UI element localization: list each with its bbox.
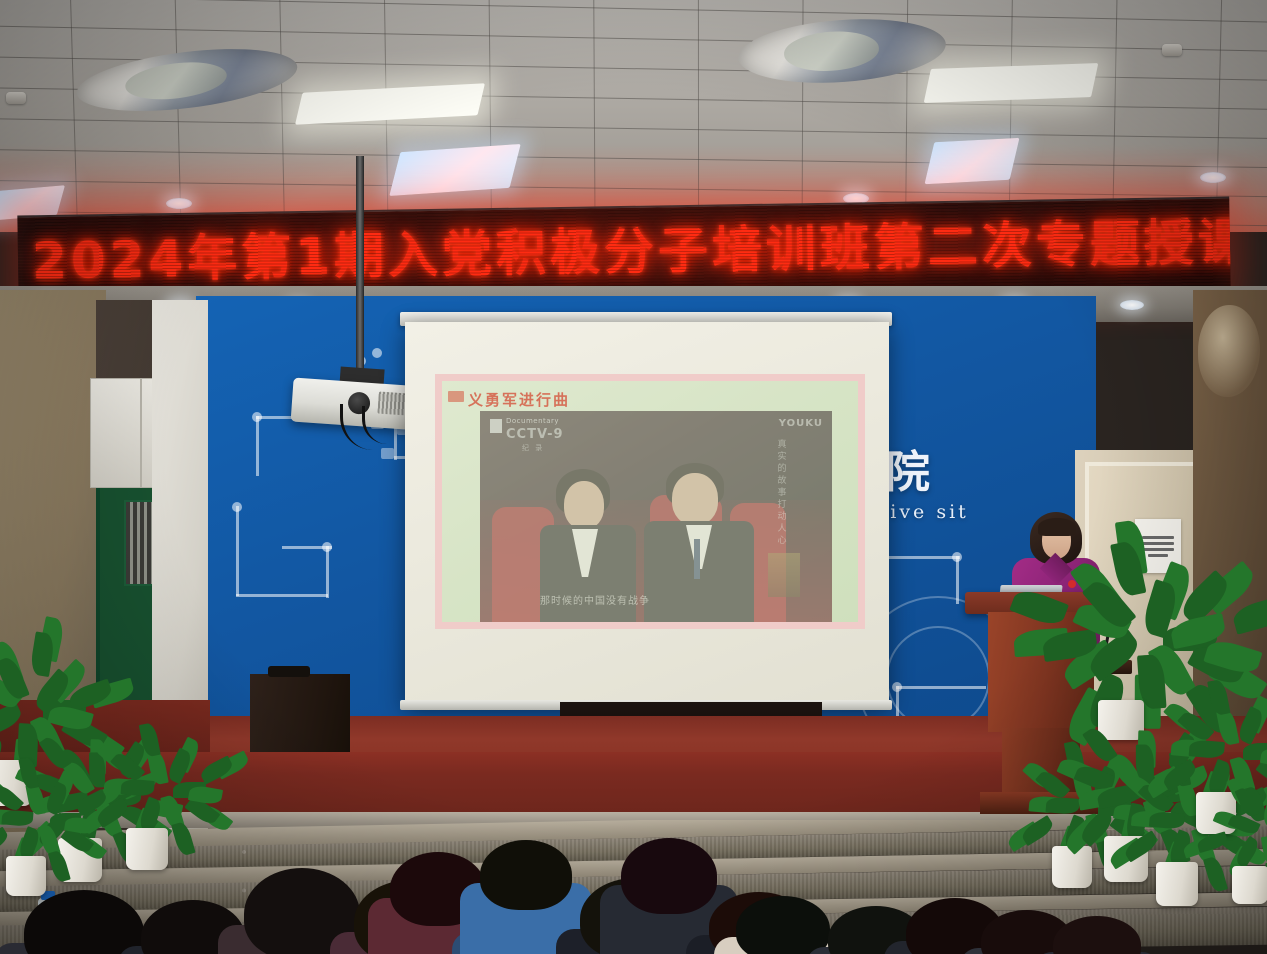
slide-title: 义勇军进行曲 (468, 389, 570, 410)
ceiling-panel-light-3 (389, 144, 521, 196)
wall-chinese-text: 院 (886, 436, 936, 500)
speaker-hair-front (1038, 518, 1076, 536)
slide-video: Documentary CCTV-9 纪 录 YOUKU 真实 的 故事 打动 … (480, 411, 832, 629)
circuit-graphic-line (326, 546, 329, 598)
plant-pot (1156, 862, 1198, 906)
circuit-graphic-line (896, 686, 986, 689)
ceiling-tile-line (279, 0, 286, 232)
video-subtitle: 那时候的中国没有战争 (540, 592, 650, 607)
audience-member (1034, 916, 1160, 954)
video-vertical-text: 真实 的 故事 打动 人心 (774, 439, 790, 547)
wall-ring-graphic-inner (886, 626, 990, 730)
plant-pot (1098, 700, 1144, 740)
ceiling-panel-light-2 (924, 63, 1099, 103)
circuit-graphic-node (372, 348, 382, 358)
ceiling-tile-line (0, 117, 1267, 140)
video-watermark: YOUKU (779, 418, 823, 429)
video-channel-line1: Documentary (506, 417, 559, 425)
circuit-graphic-icon (381, 448, 394, 459)
ceiling-tile-line (0, 0, 1267, 24)
ceiling-tile-line (0, 24, 1267, 53)
ceiling-tile-line (698, 0, 699, 232)
ceiling-tile-line (1111, 0, 1118, 232)
ceiling-tile-line (0, 148, 1267, 169)
stage-cabinet (250, 674, 350, 752)
video-channel-line2: CCTV-9 (506, 427, 564, 442)
circuit-graphic-node (952, 552, 962, 562)
circuit-graphic-line (256, 416, 259, 476)
stage-cabinet-object (268, 666, 310, 677)
video-person-right (640, 463, 760, 629)
ceiling-downlight-3 (1200, 172, 1226, 183)
plant-pot (1232, 866, 1267, 904)
ceiling-tile-line (0, 179, 1267, 198)
circuit-graphic-node (892, 682, 902, 692)
video-award-object (768, 553, 800, 597)
projection-screen: 义勇军进行曲 (405, 322, 889, 706)
smoke-detector-right (1162, 44, 1182, 56)
auditorium-photo: 2024年第1期入党积极分子培训班第二次专题授课 院 Unive sit (0, 0, 1267, 954)
circuit-graphic-line (956, 556, 959, 604)
ceiling-tile-line (593, 0, 596, 232)
circuit-graphic-line (236, 506, 239, 596)
soffit-light-6 (1120, 300, 1144, 310)
slide-flag-icon (448, 391, 464, 402)
plant-pot (126, 828, 168, 870)
circuit-graphic-node (232, 502, 242, 512)
speaker-badge (1068, 580, 1076, 588)
ceiling-panel-light-4 (925, 138, 1020, 184)
ceiling-tile-line (1008, 0, 1013, 232)
circuit-graphic-line (236, 594, 328, 597)
projector-mount-pole (356, 156, 364, 388)
video-channel-logo-icon (490, 419, 502, 433)
circuit-graphic-node (252, 412, 262, 422)
led-banner-text: 2024年第1期入党积极分子培训班第二次专题授课 (32, 211, 1213, 294)
slide: 义勇军进行曲 (435, 374, 865, 629)
ceiling (0, 0, 1267, 232)
ceiling-downlight-1 (166, 198, 192, 209)
circuit-graphic-node (322, 542, 332, 552)
smoke-detector-left (6, 92, 26, 104)
ceiling-tile-line (69, 0, 79, 232)
audience-head (1053, 916, 1141, 954)
video-channel-line3: 纪 录 (522, 443, 544, 453)
